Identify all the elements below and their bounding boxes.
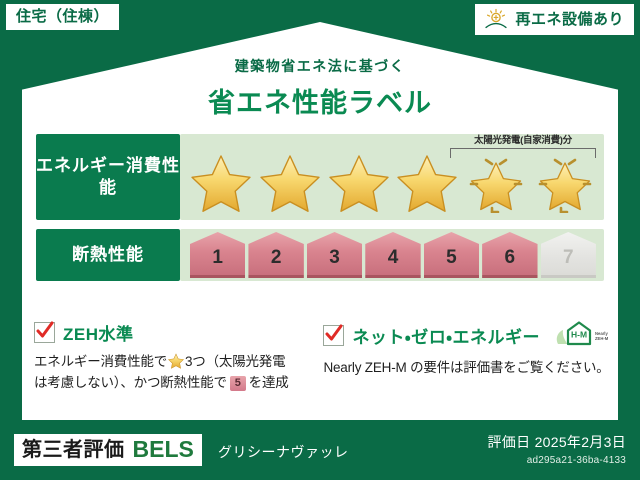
zeh-text-part1: エネルギー消費性能で <box>34 354 167 369</box>
insulation-grade-6: 6 <box>482 232 537 278</box>
star-4 <box>394 151 460 215</box>
insulation-grade-1: 1 <box>190 232 245 278</box>
renewable-chip-label: 再エネ設備あり <box>515 12 624 27</box>
netzero-description: Nearly ZEH-M の要件は評価書をご覧ください。 <box>323 358 612 379</box>
label-title-block: 建築物省エネ法に基づく 省エネ性能ラベル <box>0 56 640 120</box>
zeh-title: ZEH水準 <box>63 320 134 345</box>
title-subtitle: 建築物省エネ法に基づく <box>0 56 640 76</box>
evaluation-date: 評価日 2025年2月3日 <box>487 432 626 452</box>
sun-icon <box>483 8 509 30</box>
zeh-text-part2: は考慮しない）、かつ断熱性能で <box>34 375 227 390</box>
zeh-text-part3: を達成 <box>249 375 289 390</box>
grade-number: 1 <box>212 247 223 269</box>
insulation-grade-2: 2 <box>248 232 303 278</box>
solar-portion-annotation: 太陽光発電(自家消費)分 <box>450 136 596 158</box>
evaluation-info: 評価日 2025年2月3日 ad295a21-36ba-4133 <box>487 432 626 466</box>
insulation-grade-5: 5 <box>424 232 479 278</box>
grade-number: 3 <box>329 247 340 269</box>
grade-number: 7 <box>563 247 574 269</box>
zeh-heading: ZEH水準 <box>34 320 299 345</box>
insulation-grade-7: 7 <box>541 232 596 278</box>
building-type-chip: 住宅（住棟） <box>6 4 119 30</box>
star-rating <box>188 151 598 215</box>
energy-performance-row: エネルギー消費性能 太陽光発電(自家消費)分 <box>36 134 604 220</box>
star-2 <box>257 151 323 215</box>
netzero-title: ネット・ゼロ・エネルギー <box>352 323 540 348</box>
building-name: グリシーナヴァッレ <box>218 442 349 462</box>
zeh-m-logo-label: H-M <box>571 330 587 340</box>
svg-text:ZEH-M: ZEH-M <box>595 336 609 341</box>
solar-annotation-label: 太陽光発電(自家消費)分 <box>450 136 596 146</box>
label-footer: 第三者評価 BELS グリシーナヴァッレ 評価日 2025年2月3日 ad295… <box>0 424 640 480</box>
energy-performance-label: エネルギー消費性能 <box>36 134 180 220</box>
zeh-m-logo-icon: H-M Nearly ZEH-M <box>554 320 612 351</box>
renewable-equipment-chip: 再エネ設備あり <box>475 4 634 35</box>
criteria-sections: ZEH水準 エネルギー消費性能で3つ（太陽光発電 は考慮しない）、かつ断熱性能で… <box>34 320 612 394</box>
bels-badge: 第三者評価 BELS <box>14 434 202 466</box>
net-zero-energy-section: ネット・ゼロ・エネルギー H-M Nearly ZEH-M Nearly ZEH… <box>313 320 612 394</box>
star-5-solar <box>463 151 529 215</box>
insulation-grade-4: 4 <box>365 232 420 278</box>
grade-number: 6 <box>505 247 516 269</box>
insulation-grades-panel: 1 2 3 4 5 <box>180 229 604 281</box>
page-title: 省エネ性能ラベル <box>0 81 640 120</box>
netzero-checkbox[interactable] <box>323 325 344 346</box>
insulation-grade-3: 3 <box>307 232 362 278</box>
inline-star-icon <box>168 353 184 369</box>
zeh-checkbox[interactable] <box>34 322 55 343</box>
performance-rows: エネルギー消費性能 太陽光発電(自家消費)分 <box>36 134 604 290</box>
energy-performance-label: 住宅（住棟） 再エネ設備あり 建築物省エネ法に基づく 省エネ性能ラベル <box>0 0 640 480</box>
insulation-performance-row: 断熱性能 1 2 3 <box>36 229 604 281</box>
star-3 <box>326 151 392 215</box>
zeh-text-star: 3つ（太陽光発電 <box>185 354 285 369</box>
grade-number: 2 <box>271 247 282 269</box>
evaluation-id: ad295a21-36ba-4133 <box>487 455 626 466</box>
bels-jp-label: 第三者評価 <box>22 439 125 461</box>
bels-en-label: BELS <box>133 437 194 462</box>
insulation-grade-scale: 1 2 3 4 5 <box>190 232 596 278</box>
zeh-grade-badge: 5 <box>230 376 246 391</box>
insulation-performance-label: 断熱性能 <box>36 229 180 281</box>
netzero-heading: ネット・ゼロ・エネルギー H-M Nearly ZEH-M <box>323 320 612 351</box>
grade-number: 4 <box>388 247 399 269</box>
grade-number: 5 <box>446 247 457 269</box>
star-1 <box>188 151 254 215</box>
zeh-description: エネルギー消費性能で3つ（太陽光発電 は考慮しない）、かつ断熱性能で5を達成 <box>34 352 299 394</box>
energy-stars-panel: 太陽光発電(自家消費)分 <box>180 134 604 220</box>
zeh-standard-section: ZEH水準 エネルギー消費性能で3つ（太陽光発電 は考慮しない）、かつ断熱性能で… <box>34 320 313 394</box>
star-6-solar <box>532 151 598 215</box>
solar-bracket <box>450 148 596 158</box>
